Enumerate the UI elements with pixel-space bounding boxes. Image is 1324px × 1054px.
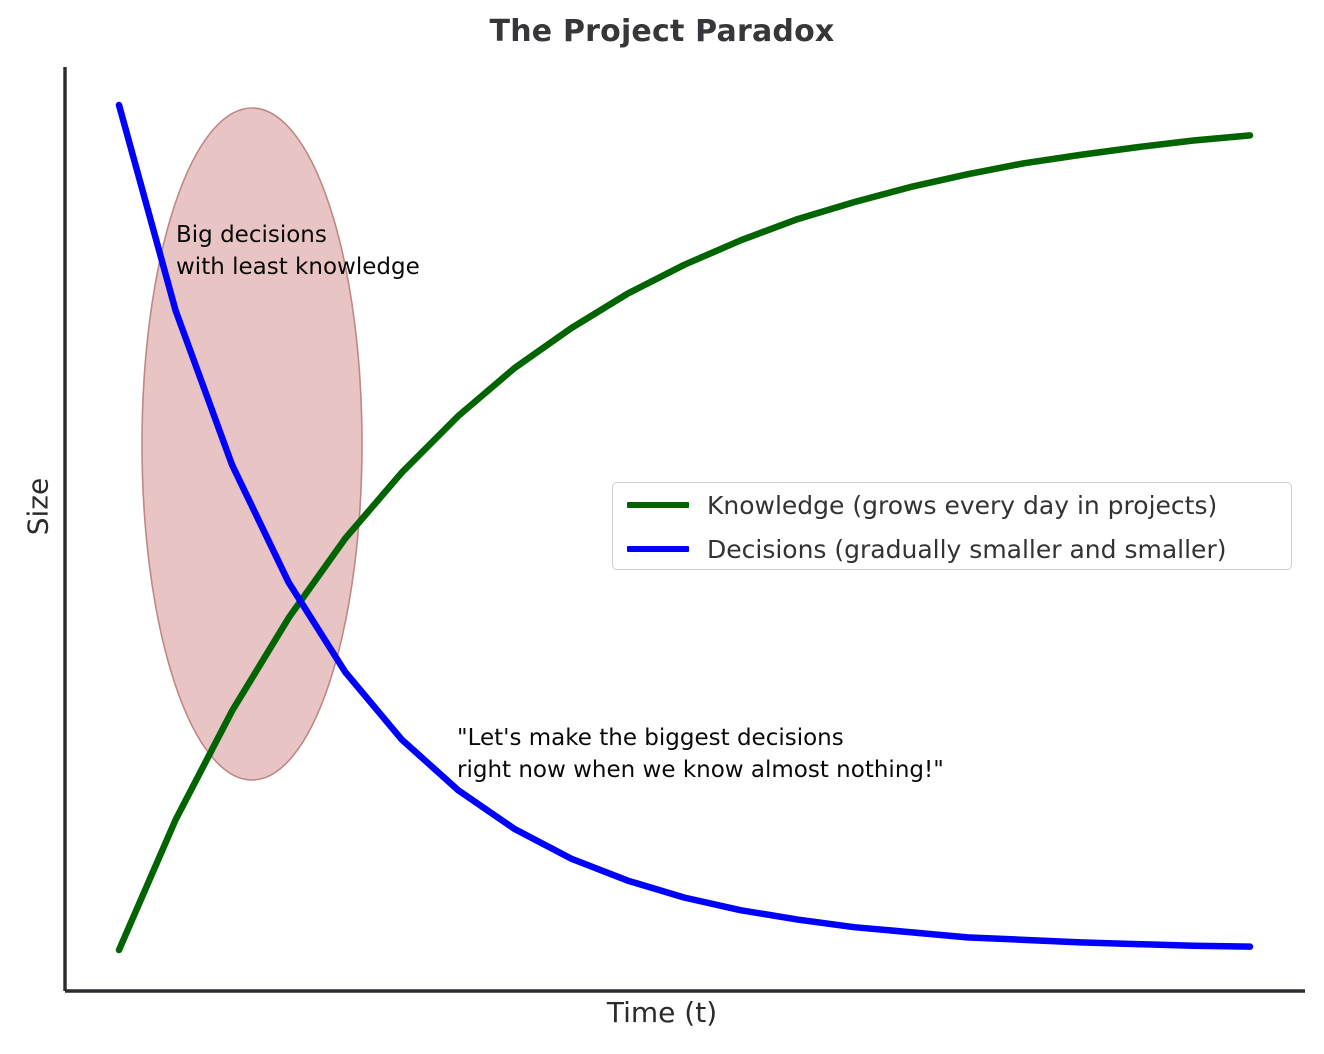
big-decisions-annotation: Big decisions with least knowledge xyxy=(176,220,420,283)
legend-swatch-knowledge xyxy=(627,502,689,508)
big-decisions-annotation-line2: with least knowledge xyxy=(176,254,420,280)
chart-legend: Knowledge (grows every day in projects) … xyxy=(612,482,1292,570)
quote-annotation-line1: "Let's make the biggest decisions xyxy=(457,725,844,751)
big-decisions-annotation-line1: Big decisions xyxy=(176,222,327,248)
x-axis-label: Time (t) xyxy=(0,996,1324,1029)
legend-item-decisions: Decisions (gradually smaller and smaller… xyxy=(613,527,1291,571)
legend-swatch-decisions xyxy=(627,546,689,552)
legend-label-knowledge: Knowledge (grows every day in projects) xyxy=(707,491,1217,520)
quote-annotation-line2: right now when we know almost nothing!" xyxy=(457,757,944,783)
y-axis-label: Size xyxy=(22,447,55,567)
legend-label-decisions: Decisions (gradually smaller and smaller… xyxy=(707,535,1226,564)
legend-item-knowledge: Knowledge (grows every day in projects) xyxy=(613,483,1291,527)
chart-figure: The Project Paradox Big decisions with l… xyxy=(0,0,1324,1054)
quote-annotation: "Let's make the biggest decisions right … xyxy=(457,723,944,786)
